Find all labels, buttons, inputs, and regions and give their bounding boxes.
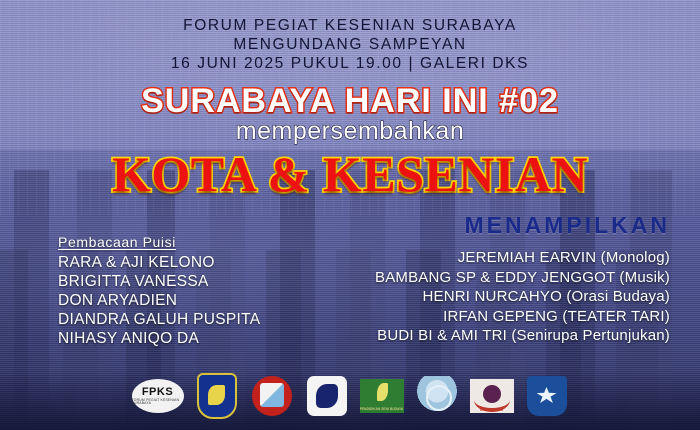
fpks-logo-caption: FORUM PEGIAT KESENIAN SURABAYA [132,399,184,406]
rounded-square-icon [307,376,347,416]
list-item: BRIGITTA VANESSA [58,272,260,291]
poster-header: FORUM PEGIAT KESENIAN SURABAYA MENGUNDAN… [0,16,700,73]
blue-shield-icon [527,376,567,416]
event-poster: FORUM PEGIAT KESENIAN SURABAYA MENGUNDAN… [0,0,700,430]
merah-putih-logo: merah putih [470,374,514,418]
featuring-section: MENAMPILKAN JEREMIAH EARVIN (Monolog) BA… [375,212,670,346]
white-rounded-square-logo [305,374,349,418]
green-logo-caption: PENDIDIKAN SENI BUDAYA [360,408,404,412]
batik-emblem-logo [415,374,459,418]
header-line-organizer: FORUM PEGIAT KESENIAN SURABAYA [0,16,700,35]
main-title: KOTA & KESENIAN [0,145,700,203]
shield-blue-gold-logo [195,374,239,418]
list-item: IRFAN GEPENG (TEATER TARI) [375,307,670,327]
fpks-logo: FPKS FORUM PEGIAT KESENIAN SURABAYA [132,379,184,413]
sponsor-logo-strip: FPKS FORUM PEGIAT KESENIAN SURABAYA PEND… [0,374,700,418]
red-circle-emblem-logo [250,374,294,418]
event-series-title: SURABAYA HARI INI #02 [0,82,700,121]
list-item: NIHASY ANIQO DA [58,329,260,348]
list-item: BUDI BI & AMI TRI (Senirupa Pertunjukan) [375,326,670,346]
merah-putih-icon: merah putih [470,379,514,413]
header-line-invitation: MENGUNDANG SAMPEYAN [0,35,700,54]
list-item: DON ARYADIEN [58,291,260,310]
featuring-performer-list: JEREMIAH EARVIN (Monolog) BAMBANG SP & E… [375,248,670,346]
shield-icon [197,373,237,419]
batik-emblem-icon [415,376,459,416]
presents-word: mempersembahkan [0,117,700,146]
poetry-section-heading: Pembacaan Puisi [58,234,260,250]
list-item: HENRI NURCAHYO (Orasi Budaya) [375,287,670,307]
poetry-section: Pembacaan Puisi RARA & AJI KELONO BRIGIT… [58,234,260,348]
green-leaf-icon: PENDIDIKAN SENI BUDAYA [360,379,404,413]
featuring-section-heading: MENAMPILKAN [375,212,670,239]
poetry-performer-list: RARA & AJI KELONO BRIGITTA VANESSA DON A… [58,253,260,348]
green-banner-logo: PENDIDIKAN SENI BUDAYA [360,374,404,418]
fpks-logo-abbr: FPKS [142,387,173,398]
circle-emblem-icon [252,376,292,416]
merah-putih-caption: merah putih [470,407,514,412]
blue-star-shield-logo [525,374,569,418]
header-line-datetime-venue: 16 JUNI 2025 PUKUL 19.00 | GALERI DKS [0,54,700,73]
list-item: DIANDRA GALUH PUSPITA [58,310,260,329]
list-item: RARA & AJI KELONO [58,253,260,272]
list-item: BAMBANG SP & EDDY JENGGOT (Musik) [375,268,670,288]
star-icon [537,387,557,403]
list-item: JEREMIAH EARVIN (Monolog) [375,248,670,268]
